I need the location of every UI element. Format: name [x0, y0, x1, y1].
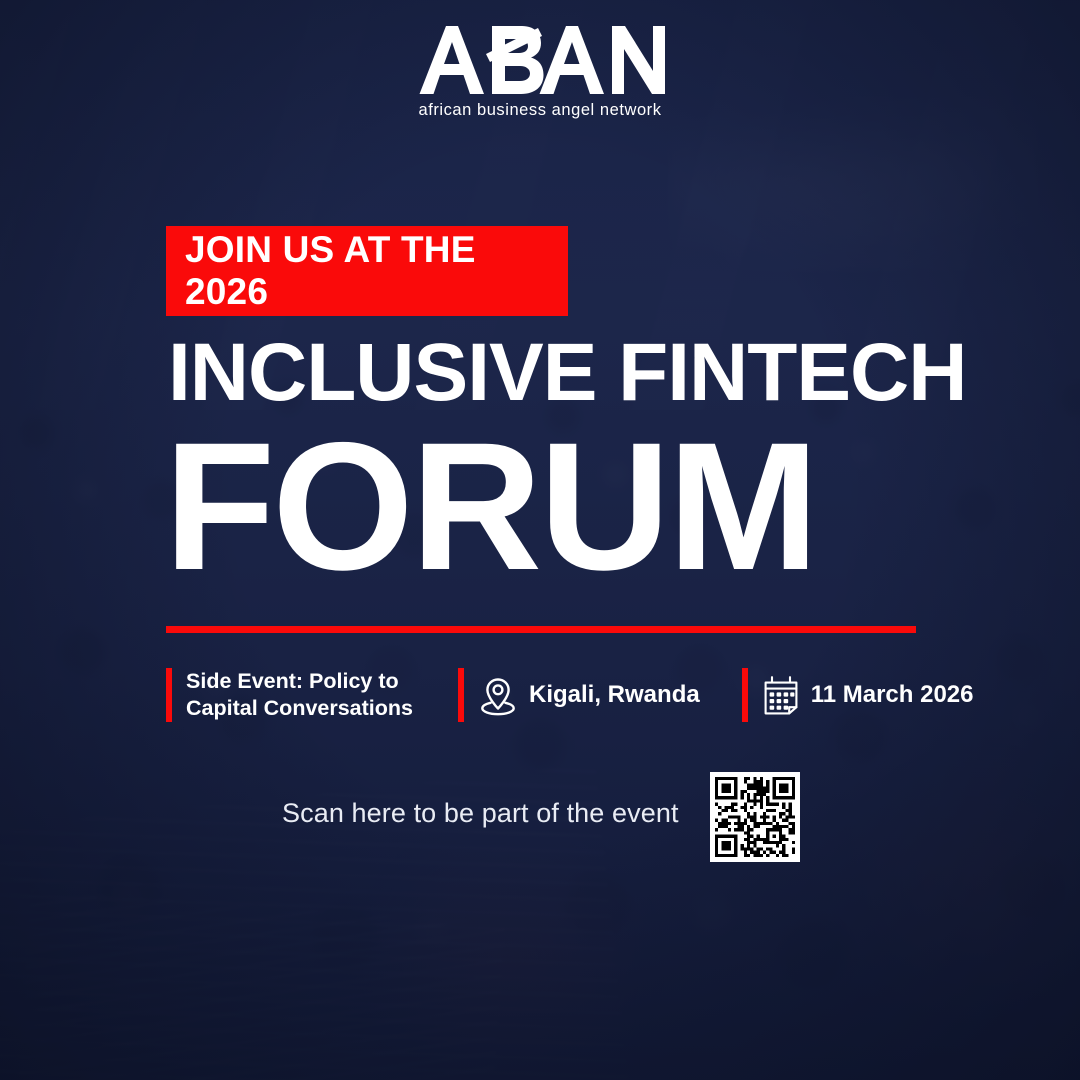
info-item-side-event: Side Event: Policy to Capital Conversati… — [166, 668, 413, 722]
join-us-badge: JOIN US AT THE 2026 — [166, 226, 568, 316]
aban-wordmark-icon — [414, 24, 666, 96]
date-label: 11 March 2026 — [811, 680, 974, 710]
info-item-location: Kigali, Rwanda — [458, 668, 700, 722]
side-event-label: Side Event: Policy to Capital Conversati… — [186, 668, 413, 722]
location-label: Kigali, Rwanda — [529, 680, 700, 710]
event-info-row: Side Event: Policy to Capital Conversati… — [166, 668, 974, 722]
calendar-icon — [762, 674, 800, 716]
headline-line-1: INCLUSIVE FINTECH — [168, 332, 966, 414]
info-spacer — [700, 668, 742, 722]
logo-tagline: african business angel network — [0, 101, 1080, 120]
location-pin-icon — [478, 674, 518, 716]
info-spacer — [413, 668, 458, 722]
join-us-badge-label: JOIN US AT THE 2026 — [166, 229, 568, 313]
aban-logo: african business angel network — [0, 24, 1080, 120]
info-item-date: 11 March 2026 — [742, 668, 974, 722]
red-divider-rule — [166, 626, 916, 633]
qr-code-icon[interactable] — [715, 777, 795, 857]
event-poster: african business angel network JOIN US A… — [0, 0, 1080, 1080]
scan-instruction-text: Scan here to be part of the event — [282, 798, 679, 829]
headline-line-2: FORUM — [164, 415, 816, 597]
qr-code[interactable] — [710, 772, 800, 862]
